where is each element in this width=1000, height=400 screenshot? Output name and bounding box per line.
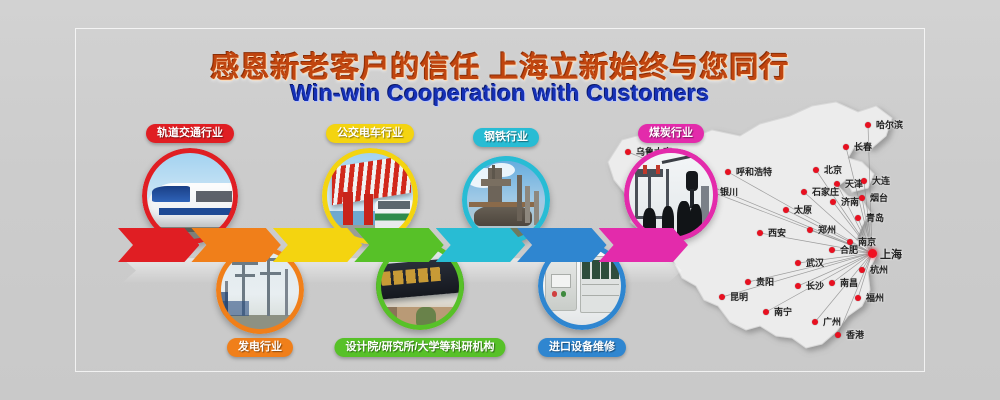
map-dot-icon <box>795 260 801 266</box>
map-city-label: 南京 <box>858 235 876 248</box>
map-city-label: 贵阳 <box>756 275 774 288</box>
map-dot-icon <box>855 295 861 301</box>
map-city-label: 烟台 <box>870 191 888 204</box>
map-dot-icon <box>725 169 731 175</box>
map-dot-icon <box>783 207 789 213</box>
map-city-label: 北京 <box>824 163 842 176</box>
map-city-label: 武汉 <box>806 256 824 269</box>
map-city-label: 西安 <box>768 226 786 239</box>
map-city-label: 福州 <box>866 291 884 304</box>
map-city-label: 济南 <box>841 195 859 208</box>
map-city-label: 南宁 <box>774 305 792 318</box>
industry-label-2[interactable]: 公交电车行业 <box>326 124 414 143</box>
industry-label-3[interactable]: 钢铁行业 <box>473 128 539 147</box>
map-city-label: 长沙 <box>806 279 824 292</box>
map-dot-icon <box>855 215 861 221</box>
map-dot-icon <box>719 294 725 300</box>
map-dot-icon <box>812 319 818 325</box>
ribbon-segment-3 <box>273 228 362 262</box>
map-city-label: 青岛 <box>866 211 884 224</box>
industry-label-5[interactable]: 发电行业 <box>227 338 293 357</box>
map-dot-icon <box>757 230 763 236</box>
map-dot-icon <box>745 279 751 285</box>
ribbon-segment-4 <box>354 228 443 262</box>
map-city-label: 南昌 <box>840 276 858 289</box>
map-city-label: 杭州 <box>870 263 888 276</box>
map-dot-icon <box>861 178 867 184</box>
map-city-label: 郑州 <box>818 223 836 236</box>
industry-label-7[interactable]: 进口设备维修 <box>538 338 626 357</box>
industry-label-1[interactable]: 轨道交通行业 <box>146 124 234 143</box>
map-dot-icon <box>865 122 871 128</box>
map-city-label: 长春 <box>854 140 872 153</box>
map-city-label: 昆明 <box>730 290 748 303</box>
map-dot-icon <box>859 267 865 273</box>
industry-image-coal[interactable] <box>624 148 718 242</box>
map-dot-icon <box>829 247 835 253</box>
map-dot-icon <box>843 144 849 150</box>
map-dot-icon <box>847 239 853 245</box>
ribbon-segment-2 <box>191 228 280 262</box>
map-city-label: 银川 <box>720 185 738 198</box>
map-dot-icon <box>807 227 813 233</box>
map-dot-icon <box>795 283 801 289</box>
map-city-label: 大连 <box>872 174 890 187</box>
map-city-label: 上海 <box>880 246 902 262</box>
map-city-label: 哈尔滨 <box>876 118 903 131</box>
map-city-label: 呼和浩特 <box>736 165 772 178</box>
map-dot-icon <box>829 280 835 286</box>
map-dot-icon <box>801 189 807 195</box>
map-dot-icon <box>835 332 841 338</box>
industry-label-4[interactable]: 煤炭行业 <box>638 124 704 143</box>
map-dot-icon <box>859 195 865 201</box>
ribbon-segment-1 <box>118 228 199 262</box>
ribbon-segment-6 <box>517 228 606 262</box>
map-city-label: 太原 <box>794 203 812 216</box>
map-city-label: 香港 <box>846 328 864 341</box>
map-city-label: 广州 <box>823 315 841 328</box>
page-subtitle: Win-win Cooperation with Customers <box>0 80 1000 107</box>
industry-label-6[interactable]: 设计院/研究所/大学等科研机构 <box>334 338 505 357</box>
banner-stage: 乌鲁木齐哈尔滨长春呼和浩特北京天津大连银川石家庄济南烟台太原青岛西安郑州合肥南京… <box>0 0 1000 400</box>
map-dot-icon <box>813 167 819 173</box>
map-dot-icon <box>868 249 877 258</box>
map-city-label: 石家庄 <box>812 185 839 198</box>
map-dot-icon <box>763 309 769 315</box>
map-dot-icon <box>830 199 836 205</box>
